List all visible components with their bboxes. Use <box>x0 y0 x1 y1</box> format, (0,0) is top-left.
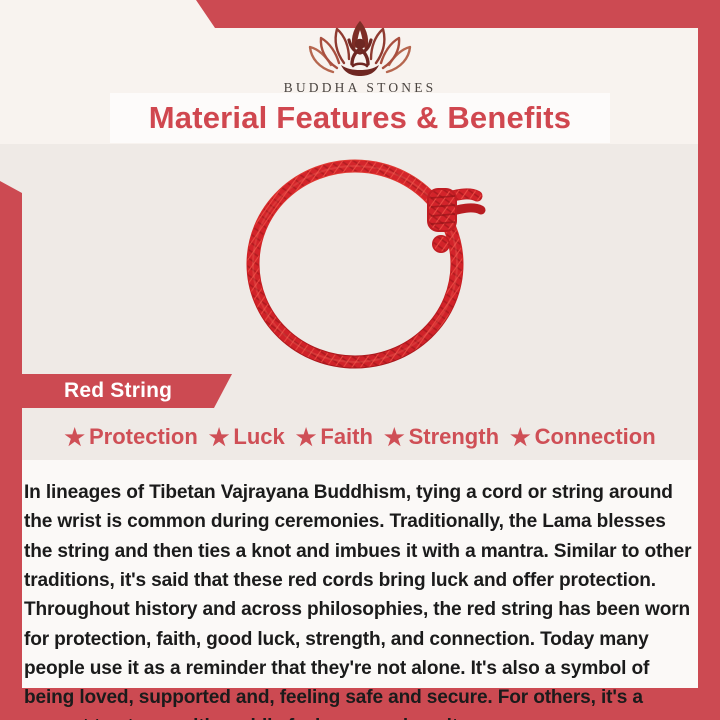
star-icon: ★ <box>64 426 85 449</box>
benefit-label: Luck <box>233 424 284 450</box>
star-icon: ★ <box>510 426 531 449</box>
benefit-item-protection: ★ Protection <box>64 424 197 450</box>
star-icon: ★ <box>209 426 230 449</box>
page-title: Material Features & Benefits <box>149 100 572 136</box>
brand-logo: BUDDHA STONES <box>0 16 720 96</box>
benefit-label: Connection <box>535 424 656 450</box>
brand-wordmark: BUDDHA STONES <box>0 80 720 96</box>
title-banner: Material Features & Benefits <box>110 93 610 143</box>
benefit-label: Strength <box>409 424 499 450</box>
description-paragraph: In lineages of Tibetan Vajrayana Buddhis… <box>24 478 692 720</box>
red-braided-string-bracelet-icon <box>225 152 495 372</box>
star-icon: ★ <box>384 426 405 449</box>
benefits-list: ★ Protection ★ Luck ★ Faith ★ Strength ★… <box>22 418 698 456</box>
benefit-item-faith: ★ Faith <box>296 424 373 450</box>
benefit-label: Protection <box>89 424 198 450</box>
left-red-bar-decoration <box>0 181 22 720</box>
benefit-item-strength: ★ Strength <box>384 424 499 450</box>
product-label: Red String <box>22 379 172 403</box>
star-icon: ★ <box>296 426 317 449</box>
infographic-page: BUDDHA STONES Material Features & Benefi… <box>0 0 720 720</box>
lotus-meditation-icon <box>0 16 720 78</box>
right-red-bar-decoration <box>698 0 720 720</box>
benefit-item-connection: ★ Connection <box>510 424 656 450</box>
benefit-item-luck: ★ Luck <box>209 424 285 450</box>
benefit-label: Faith <box>320 424 373 450</box>
product-image <box>22 144 698 380</box>
product-label-banner: Red String <box>22 374 232 408</box>
